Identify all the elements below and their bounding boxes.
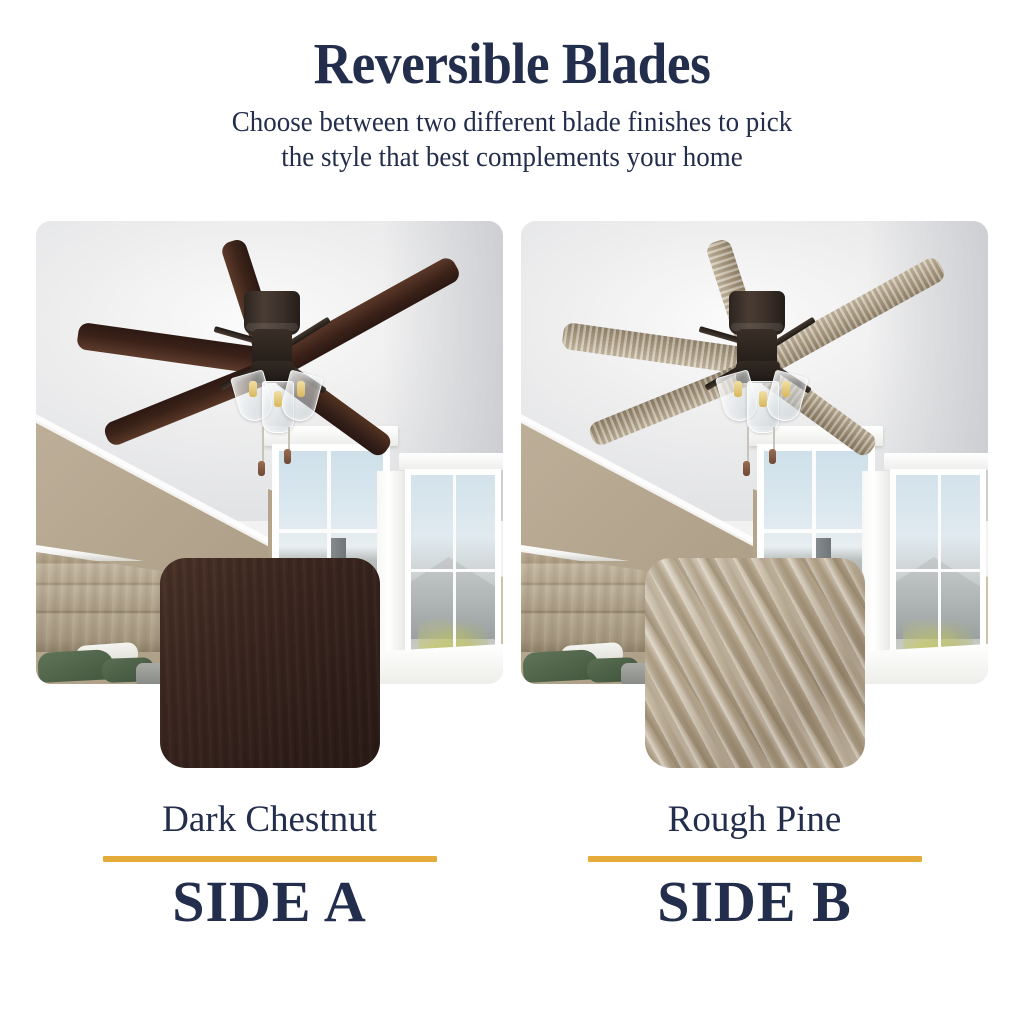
pull-chain-knob-2[interactable] xyxy=(769,449,776,464)
page-subtitle: Choose between two different blade finis… xyxy=(36,105,988,176)
pull-chain-knob-2[interactable] xyxy=(284,449,291,464)
infographic-page: Reversible Blades Choose between two dif… xyxy=(0,0,1024,1024)
pull-chain-1[interactable] xyxy=(262,427,264,463)
side-label-side-a: SIDE A xyxy=(36,870,503,935)
gold-divider-side-b xyxy=(588,856,922,862)
light-bulb-2 xyxy=(274,391,282,407)
comparison-panels xyxy=(36,221,988,781)
finish-name-side-b: Rough Pine xyxy=(521,800,988,841)
caption-side-b: Rough Pine SIDE B xyxy=(521,800,988,935)
pull-chain-1[interactable] xyxy=(747,427,749,463)
dark-chestnut-swatch xyxy=(160,558,380,768)
panel-side-a xyxy=(36,221,503,781)
subtitle-line-1: Choose between two different blade finis… xyxy=(36,105,988,140)
header: Reversible Blades Choose between two dif… xyxy=(0,0,1024,175)
page-title: Reversible Blades xyxy=(41,34,983,94)
captions-row: Dark Chestnut SIDE A Rough Pine SIDE B xyxy=(36,800,988,935)
light-bulb-3 xyxy=(297,381,305,397)
rough-pine-swatch xyxy=(645,558,865,768)
light-bulb-1 xyxy=(734,381,742,397)
finish-name-side-a: Dark Chestnut xyxy=(36,800,503,841)
pull-chain-knob-1[interactable] xyxy=(743,461,750,476)
light-bulb-3 xyxy=(782,381,790,397)
caption-side-a: Dark Chestnut SIDE A xyxy=(36,800,503,935)
pull-chain-2[interactable] xyxy=(288,427,290,451)
panel-side-b xyxy=(521,221,988,781)
gold-divider-side-a xyxy=(103,856,437,862)
side-label-side-b: SIDE B xyxy=(521,870,988,935)
pull-chain-knob-1[interactable] xyxy=(258,461,265,476)
light-bulb-2 xyxy=(759,391,767,407)
pull-chain-2[interactable] xyxy=(773,427,775,451)
subtitle-line-2: the style that best complements your hom… xyxy=(36,140,988,175)
light-bulb-1 xyxy=(249,381,257,397)
